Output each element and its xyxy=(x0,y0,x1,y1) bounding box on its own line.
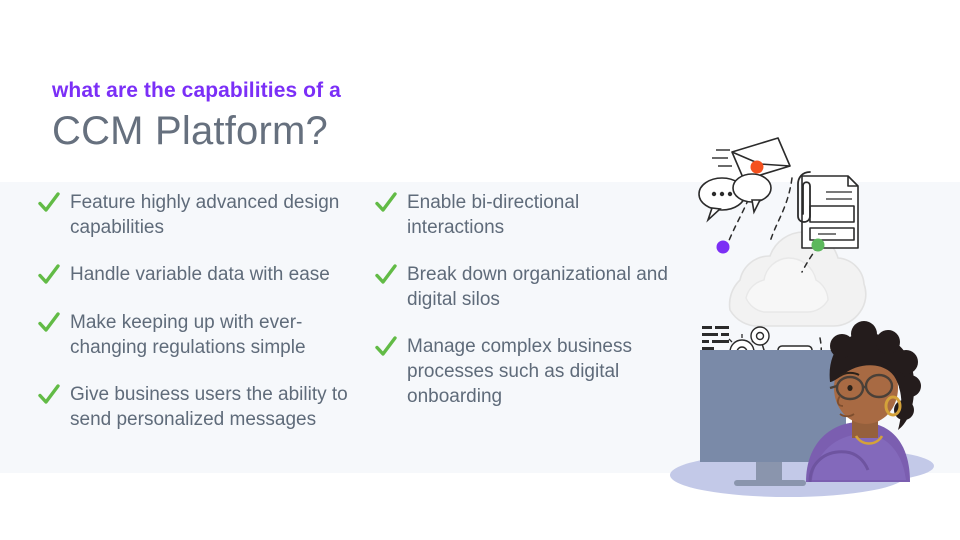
heading-block: what are the capabilities of a CCM Platf… xyxy=(52,78,672,154)
list-item-label: Enable bi-directional interactions xyxy=(407,190,675,240)
list-item: Manage complex business processes such a… xyxy=(375,334,675,409)
list-item: Make keeping up with ever-changing regul… xyxy=(38,310,368,360)
list-item: Give business users the ability to send … xyxy=(38,382,368,432)
list-item-label: Feature highly advanced design capabilit… xyxy=(70,190,368,240)
list-item-label: Break down organizational and digital si… xyxy=(407,262,675,312)
slide-eyebrow: what are the capabilities of a xyxy=(52,78,672,103)
check-icon xyxy=(38,263,60,289)
bullet-column-right: Enable bi-directional interactions Break… xyxy=(375,190,675,432)
check-icon xyxy=(375,191,397,217)
check-icon xyxy=(375,335,397,361)
check-icon xyxy=(375,263,397,289)
list-item: Break down organizational and digital si… xyxy=(375,262,675,312)
list-item-label: Handle variable data with ease xyxy=(70,262,330,287)
list-item-label: Make keeping up with ever-changing regul… xyxy=(70,310,368,360)
list-item: Feature highly advanced design capabilit… xyxy=(38,190,368,240)
envelope-icon xyxy=(712,138,790,180)
check-icon xyxy=(38,311,60,337)
list-item-label: Give business users the ability to send … xyxy=(70,382,368,432)
check-icon xyxy=(38,191,60,217)
slide-canvas: what are the capabilities of a CCM Platf… xyxy=(0,0,960,540)
page-title: CCM Platform? xyxy=(52,109,672,154)
list-item: Handle variable data with ease xyxy=(38,262,368,288)
check-icon xyxy=(38,383,60,409)
list-item-label: Manage complex business processes such a… xyxy=(407,334,675,409)
list-item: Enable bi-directional interactions xyxy=(375,190,675,240)
bullet-column-left: Feature highly advanced design capabilit… xyxy=(38,190,368,454)
